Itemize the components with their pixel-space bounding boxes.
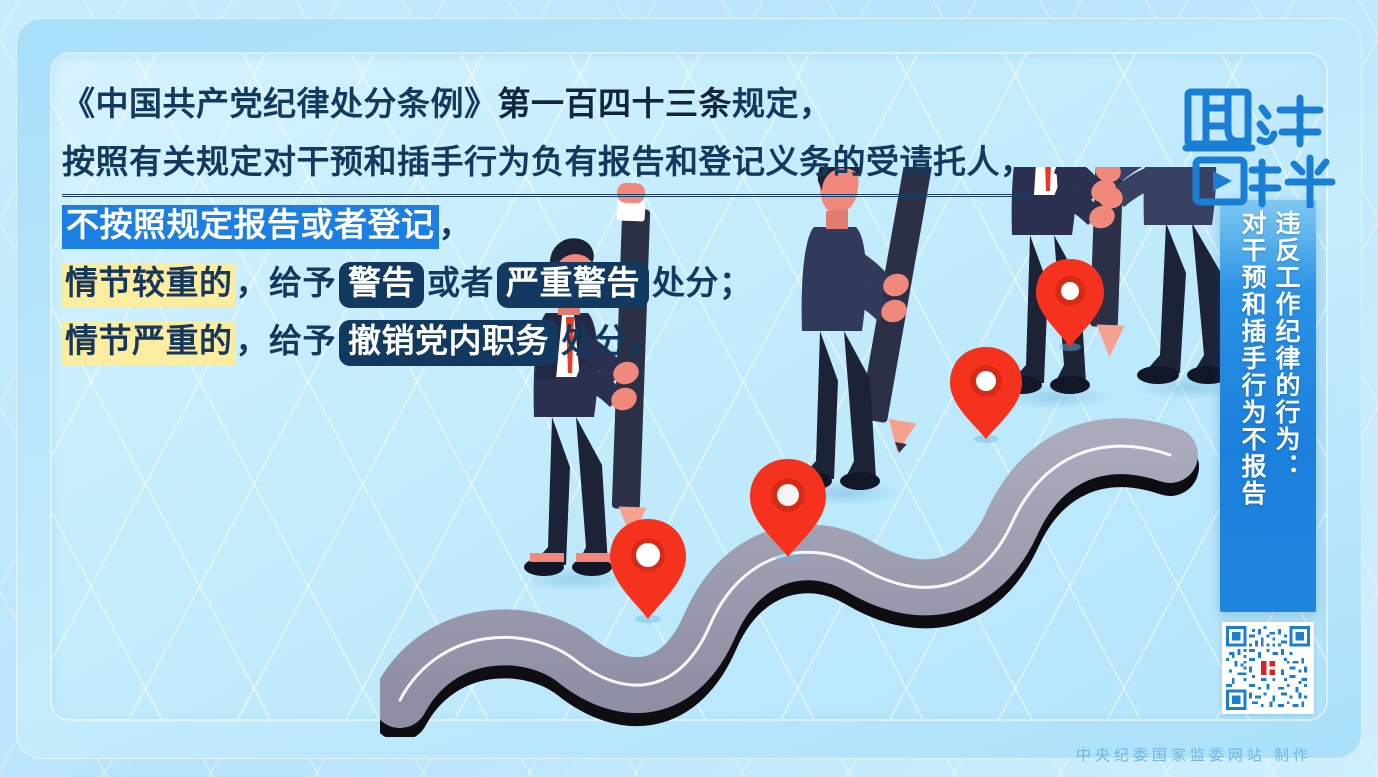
vertical-banner-line-2: 对干预和插手行为不报告 xyxy=(1235,210,1267,507)
credit-text: 中央纪委国家监委网站 制作 xyxy=(1076,744,1312,765)
line5-tail: 处分。 xyxy=(561,324,662,360)
title-suffix: 规定， xyxy=(732,87,833,123)
line4-middle: 或者 xyxy=(427,266,494,302)
title-prefix: 《中国共产党纪律处分条例》 xyxy=(62,87,498,123)
vertical-banner: 违反工作纪律的行为： 对干预和插手行为不报告 xyxy=(1220,200,1316,612)
line2-underlined-text: 按照有关规定对干预和插手行为负有报告和登记义务的受请托人， xyxy=(62,134,1034,197)
line4-badge-warning: 警告 xyxy=(339,262,424,308)
line4-badge-serious-warning: 严重警告 xyxy=(497,262,649,308)
text-line-title: 《中国共产党纪律处分条例》第一百四十三条规定， xyxy=(62,76,1072,134)
line5-badge-removal: 撤销党内职务 xyxy=(339,320,558,366)
jifa-baike-logo xyxy=(1182,86,1340,208)
text-line-2: 按照有关规定对干预和插手行为负有报告和登记义务的受请托人， xyxy=(62,134,1072,197)
line4-after-yellow: ，给予 xyxy=(236,266,337,302)
vertical-banner-line-1: 违反工作纪律的行为： xyxy=(1269,210,1301,480)
text-line-5: 情节严重的，给予撤销党内职务处分。 xyxy=(62,313,1072,371)
line4-yellow-highlight: 情节较重的 xyxy=(62,263,236,307)
text-line-4: 情节较重的，给予警告或者严重警告处分； xyxy=(62,255,1072,313)
poster-canvas: 《中国共产党纪律处分条例》第一百四十三条规定， 按照有关规定对干预和插手行为负有… xyxy=(0,0,1378,777)
line3-blue-highlight: 不按照规定报告或者登记 xyxy=(62,205,439,249)
map-pin-1 xyxy=(610,519,686,623)
line4-tail: 处分； xyxy=(652,266,753,302)
line3-tail: ， xyxy=(439,208,473,244)
text-line-3: 不按照规定报告或者登记， xyxy=(62,197,1072,255)
line5-yellow-highlight: 情节严重的 xyxy=(62,321,236,365)
title-article-number: 第一百四十三条 xyxy=(498,87,733,123)
qr-code[interactable] xyxy=(1222,622,1314,714)
regulation-text-block: 《中国共产党纪律处分条例》第一百四十三条规定， 按照有关规定对干预和插手行为负有… xyxy=(62,76,1072,371)
line5-after-yellow: ，给予 xyxy=(236,324,337,360)
